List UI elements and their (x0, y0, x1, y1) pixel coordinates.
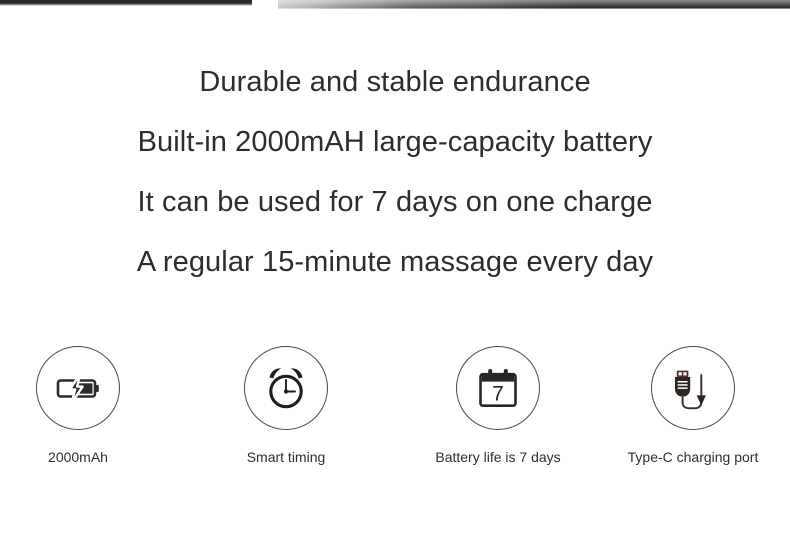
feature-caption: 2000mAh (0, 448, 163, 466)
feature-icon-circle: 7 (456, 346, 540, 430)
feature-icon-circle (651, 346, 735, 430)
top-edge-left-band (0, 0, 252, 6)
headline-block: Durable and stable endurance Built-in 20… (0, 52, 790, 292)
alarm-clock-icon (260, 362, 312, 414)
feature-caption: Battery life is 7 days (413, 448, 583, 466)
headline-line-4: A regular 15-minute massage every day (0, 232, 790, 292)
calendar-7-icon: 7 (472, 362, 524, 414)
headline-line-1: Durable and stable endurance (0, 52, 790, 112)
headline-line-3: It can be used for 7 days on one charge (0, 172, 790, 232)
feature-battery-life-days: 7 Battery life is 7 days (413, 346, 583, 466)
feature-caption: Smart timing (201, 448, 371, 466)
feature-row: 2000mAh Smart timing (0, 346, 790, 486)
feature-battery-capacity: 2000mAh (0, 346, 163, 466)
usb-type-c-cable-icon (667, 362, 719, 414)
headline-line-2: Built-in 2000mAH large-capacity battery (0, 112, 790, 172)
feature-icon-circle (244, 346, 328, 430)
feature-caption: Type-C charging port (608, 448, 778, 466)
feature-smart-timing: Smart timing (201, 346, 371, 466)
feature-type-c-port: Type-C charging port (608, 346, 778, 466)
calendar-day-number: 7 (492, 382, 504, 405)
top-image-edge-strip (0, 0, 790, 12)
feature-icon-circle (36, 346, 120, 430)
top-edge-right-fade (278, 0, 578, 9)
battery-charging-icon (52, 362, 104, 414)
